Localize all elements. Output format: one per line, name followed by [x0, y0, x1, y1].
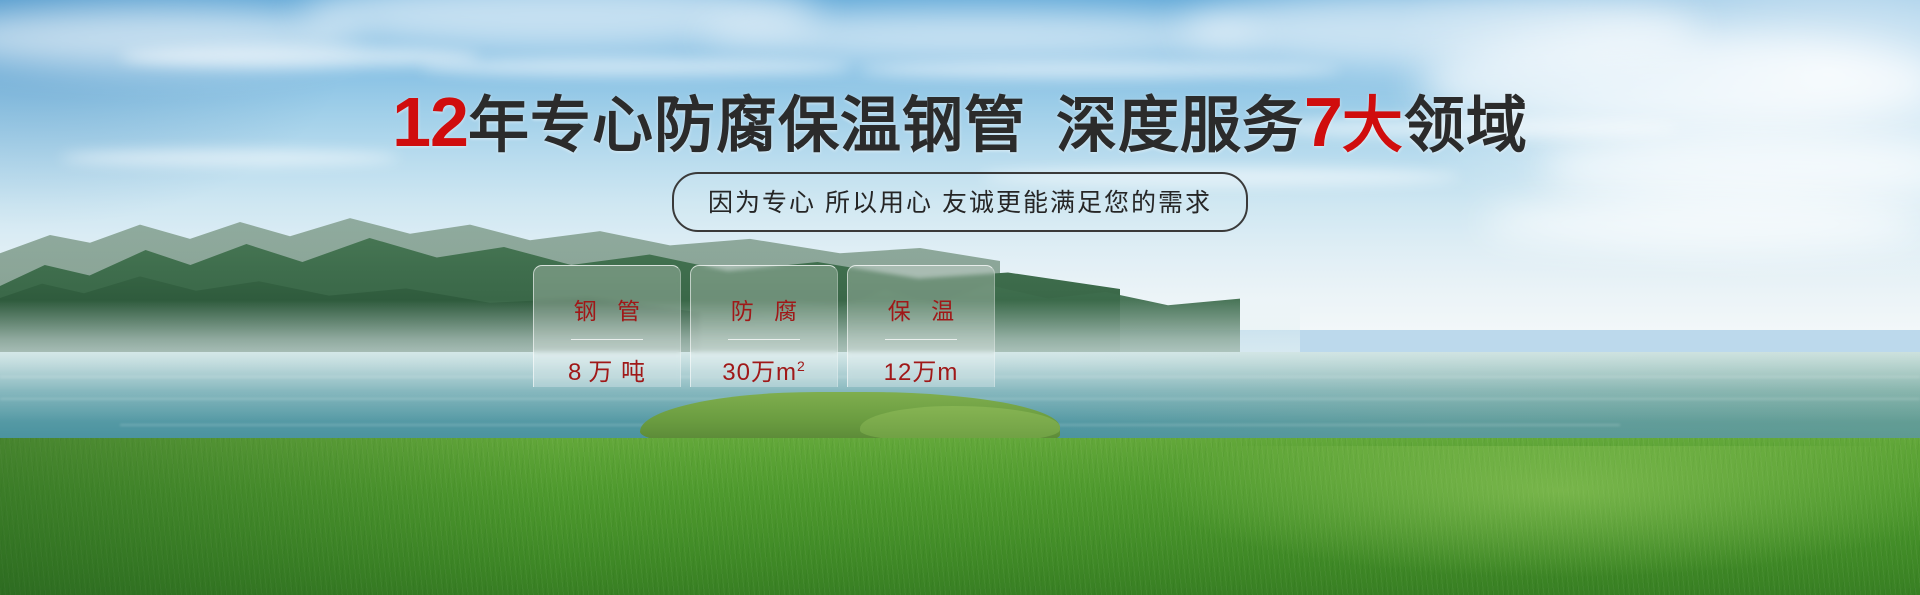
headline-segment-3: 领域: [1404, 91, 1528, 159]
stat-card-divider: [571, 339, 643, 340]
headline-segment-2: 深度服务: [1056, 91, 1304, 159]
stat-card-label: 保 温: [881, 292, 961, 326]
headline-segment-1: 年专心防腐保温钢管: [468, 91, 1026, 159]
stat-card-label: 防 腐: [724, 292, 804, 326]
headline-years-number: 12: [392, 83, 468, 161]
stat-card-label: 钢 管: [567, 292, 647, 326]
stat-card-value: 30万m2: [722, 352, 806, 387]
stat-value-number: 8: [568, 359, 582, 386]
stat-value-unit: 万m: [912, 359, 958, 386]
stat-value-number: 30: [722, 359, 751, 386]
stat-card-anticorrosion[interactable]: 防 腐 30万m2: [690, 265, 838, 387]
subtitle-container: 因为专心 所以用心 友诚更能满足您的需求: [0, 172, 1920, 232]
stat-value-superscript: 2: [797, 358, 806, 374]
stat-card-divider: [885, 339, 957, 340]
stat-card-insulation[interactable]: 保 温 12万m: [847, 265, 995, 387]
headline: 12年专心防腐保温钢管深度服务7大领域: [0, 86, 1920, 160]
stat-card-steel-pipe[interactable]: 钢 管 8万 吨: [533, 265, 681, 387]
hero-banner: 12年专心防腐保温钢管深度服务7大领域 因为专心 所以用心 友诚更能满足您的需求…: [0, 0, 1920, 595]
headline-fields-number: 7: [1304, 83, 1342, 161]
stat-card-list: 钢 管 8万 吨 防 腐 30万m2 保 温 12万m: [533, 265, 995, 387]
stat-value-unit: 万m: [751, 359, 797, 386]
stat-card-value: 8万 吨: [568, 352, 646, 387]
stat-card-value: 12万m: [884, 352, 959, 387]
subtitle-pill: 因为专心 所以用心 友诚更能满足您的需求: [672, 172, 1248, 232]
headline-fields-unit: 大: [1342, 91, 1404, 159]
stat-value-number: 12: [884, 359, 913, 386]
stat-card-divider: [728, 339, 800, 340]
stat-value-unit: 万 吨: [588, 359, 646, 386]
banner-content: 12年专心防腐保温钢管深度服务7大领域 因为专心 所以用心 友诚更能满足您的需求…: [0, 0, 1920, 595]
